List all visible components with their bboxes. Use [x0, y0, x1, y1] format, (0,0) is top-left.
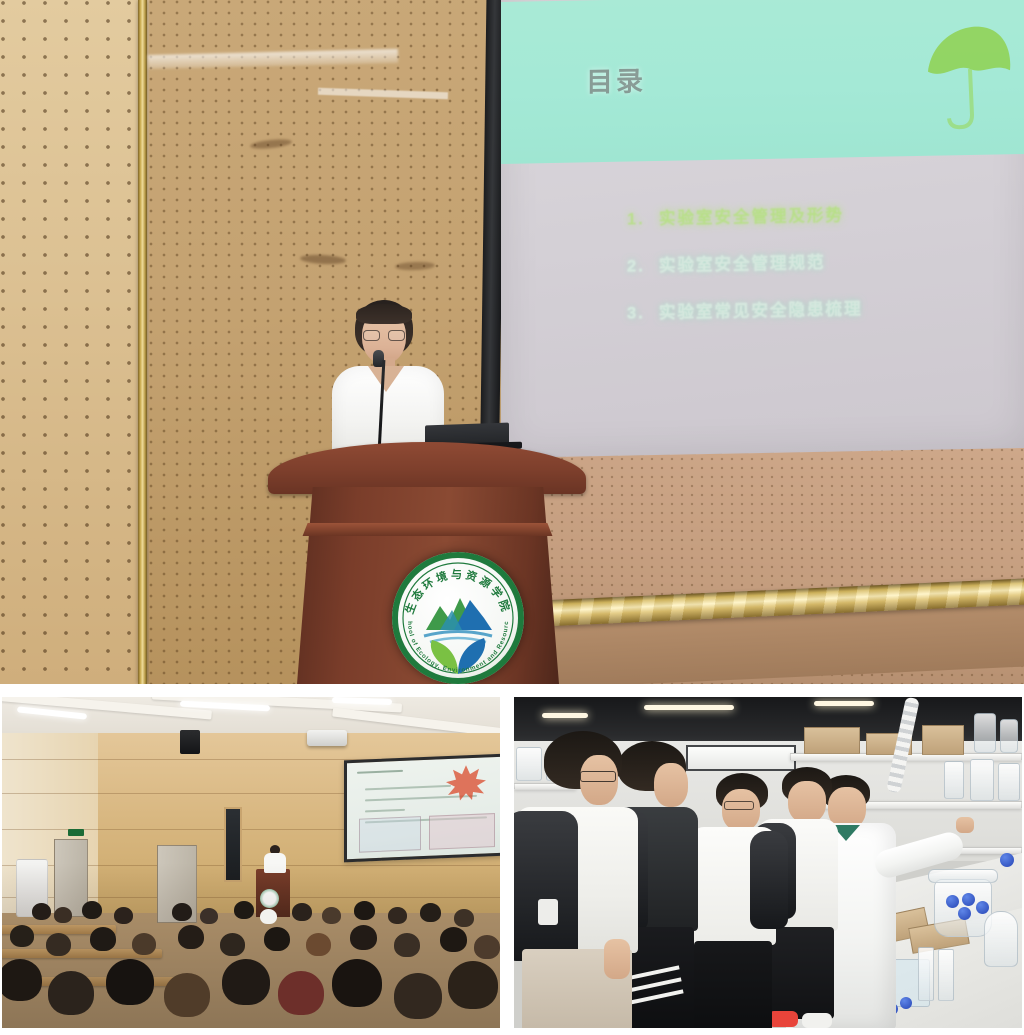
test-tube [918, 947, 934, 1001]
audience-head [388, 907, 407, 924]
audience-head [440, 927, 467, 952]
face [654, 763, 688, 807]
wall-speaker [180, 730, 200, 754]
slide-item-text: 实验室常见安全隐患梳理 [659, 295, 863, 323]
audience-head [106, 959, 154, 1005]
slide-text-line [365, 809, 405, 813]
starburst-icon [445, 763, 487, 801]
cardboard-box [804, 727, 860, 754]
backpack [514, 811, 578, 961]
slide-list-item: 1. 实验室安全管理及形势 [627, 198, 1024, 230]
slide-text-line [365, 785, 451, 791]
audience-head [322, 907, 341, 924]
slide-item-number: 3. [627, 304, 647, 323]
audience-head [394, 933, 420, 957]
backpack-pocket-item [538, 899, 558, 925]
hand [604, 939, 630, 979]
audience-head [306, 933, 331, 956]
audience-head [200, 908, 218, 924]
slide-chart-box [359, 816, 421, 853]
ceiling-light [644, 705, 734, 710]
slide-title: 目录 [586, 59, 646, 99]
test-tube [938, 949, 954, 1001]
audience-head [234, 901, 254, 919]
glasses-icon [580, 771, 616, 782]
slide-item-text: 实验室安全管理规范 [659, 249, 826, 276]
audience-head [48, 971, 94, 1015]
perforation-pattern [0, 0, 140, 684]
audience-head [264, 927, 290, 951]
panel-lecture-hall [2, 697, 500, 1028]
slide-header-band: 目录 [501, 0, 1024, 164]
panel-podium-lecture: 目录 1. 实验室安全管理及形势 2. 实验室安全管理规范 3. 实验室常见安全… [0, 0, 1024, 684]
school-emblem: 生态环境与资源学院 School of Ecology, Environment… [392, 552, 524, 684]
audience-head [350, 925, 377, 950]
audience-head [46, 933, 71, 956]
audience-head [394, 973, 442, 1019]
audience-head [332, 959, 382, 1007]
glasses-icon [724, 801, 754, 810]
slide-contents-list: 1. 实验室安全管理及形势 2. 实验室安全管理规范 3. 实验室常见安全隐患梳… [627, 198, 1024, 347]
slide-heading-line [357, 770, 403, 774]
ceiling-light [814, 701, 874, 706]
audience-head [454, 909, 474, 927]
lectern-shelf [300, 523, 555, 536]
hall-projection-screen [344, 754, 500, 863]
blue-cap [962, 893, 975, 906]
audience-head [54, 907, 72, 923]
panel-gap-vertical [500, 690, 514, 1035]
hand [956, 817, 974, 833]
photo-collage: 目录 1. 实验室安全管理及形势 2. 实验室安全管理规范 3. 实验室常见安全… [0, 0, 1024, 1035]
audience-head [474, 935, 500, 959]
audience-head [114, 907, 133, 924]
panel-laboratory-tour [514, 697, 1022, 1028]
audience-head [10, 925, 34, 947]
audience-head [178, 925, 204, 949]
face [722, 789, 760, 831]
reagent-bottle [998, 763, 1020, 801]
blue-cap [976, 901, 989, 914]
reagent-bottle [1000, 719, 1018, 753]
audience-head [220, 933, 245, 956]
audience-head-cap [260, 909, 277, 924]
blue-cap [1000, 853, 1014, 867]
ceiling-projector [307, 730, 347, 746]
reagent-bottle [944, 761, 964, 799]
audience-area [2, 863, 500, 1028]
audience-head [354, 901, 375, 920]
slide-item-number: 1. [627, 210, 647, 229]
audience-head [32, 903, 51, 920]
backpack [750, 831, 788, 929]
lab-student [514, 731, 646, 1028]
audience-head [448, 961, 498, 1009]
cardboard-box [922, 725, 964, 755]
exit-sign [68, 829, 84, 836]
audience-head [172, 903, 192, 921]
audience-head [278, 971, 324, 1015]
desiccator-lid [928, 869, 998, 883]
fringe [356, 304, 412, 324]
reagent-bottle [970, 759, 994, 801]
reagent-bottle [974, 713, 996, 753]
umbrella-icon [922, 22, 1012, 134]
audience-head [292, 903, 312, 921]
glasses-icon [362, 330, 406, 341]
audience-head [2, 959, 42, 1001]
slide-item-number: 2. [627, 257, 647, 276]
wall-slab-left [0, 0, 140, 684]
school-emblem-graphic: 生态环境与资源学院 School of Ecology, Environment… [392, 552, 524, 684]
blue-cap [946, 895, 959, 908]
blue-cap [958, 907, 971, 920]
slide-list-item: 3. 实验室常见安全隐患梳理 [627, 292, 1024, 324]
audience-head [420, 903, 441, 922]
slide-chart-box [429, 813, 495, 850]
sneaker [802, 1013, 832, 1028]
wall-seam-gold-left [138, 0, 147, 684]
audience-head [222, 959, 270, 1005]
ceiling-light [542, 713, 588, 718]
audience-head [164, 973, 210, 1017]
audience-head [90, 927, 116, 951]
slide-item-text: 实验室安全管理及形势 [659, 201, 844, 229]
audience-head [132, 933, 156, 955]
projection-screen: 目录 1. 实验室安全管理及形势 2. 实验室安全管理规范 3. 实验室常见安全… [501, 0, 1024, 458]
slide-list-item: 2. 实验室安全管理规范 [627, 245, 1024, 277]
face [788, 781, 826, 823]
audience-head [82, 901, 102, 919]
round-bottom-flask [984, 911, 1018, 967]
